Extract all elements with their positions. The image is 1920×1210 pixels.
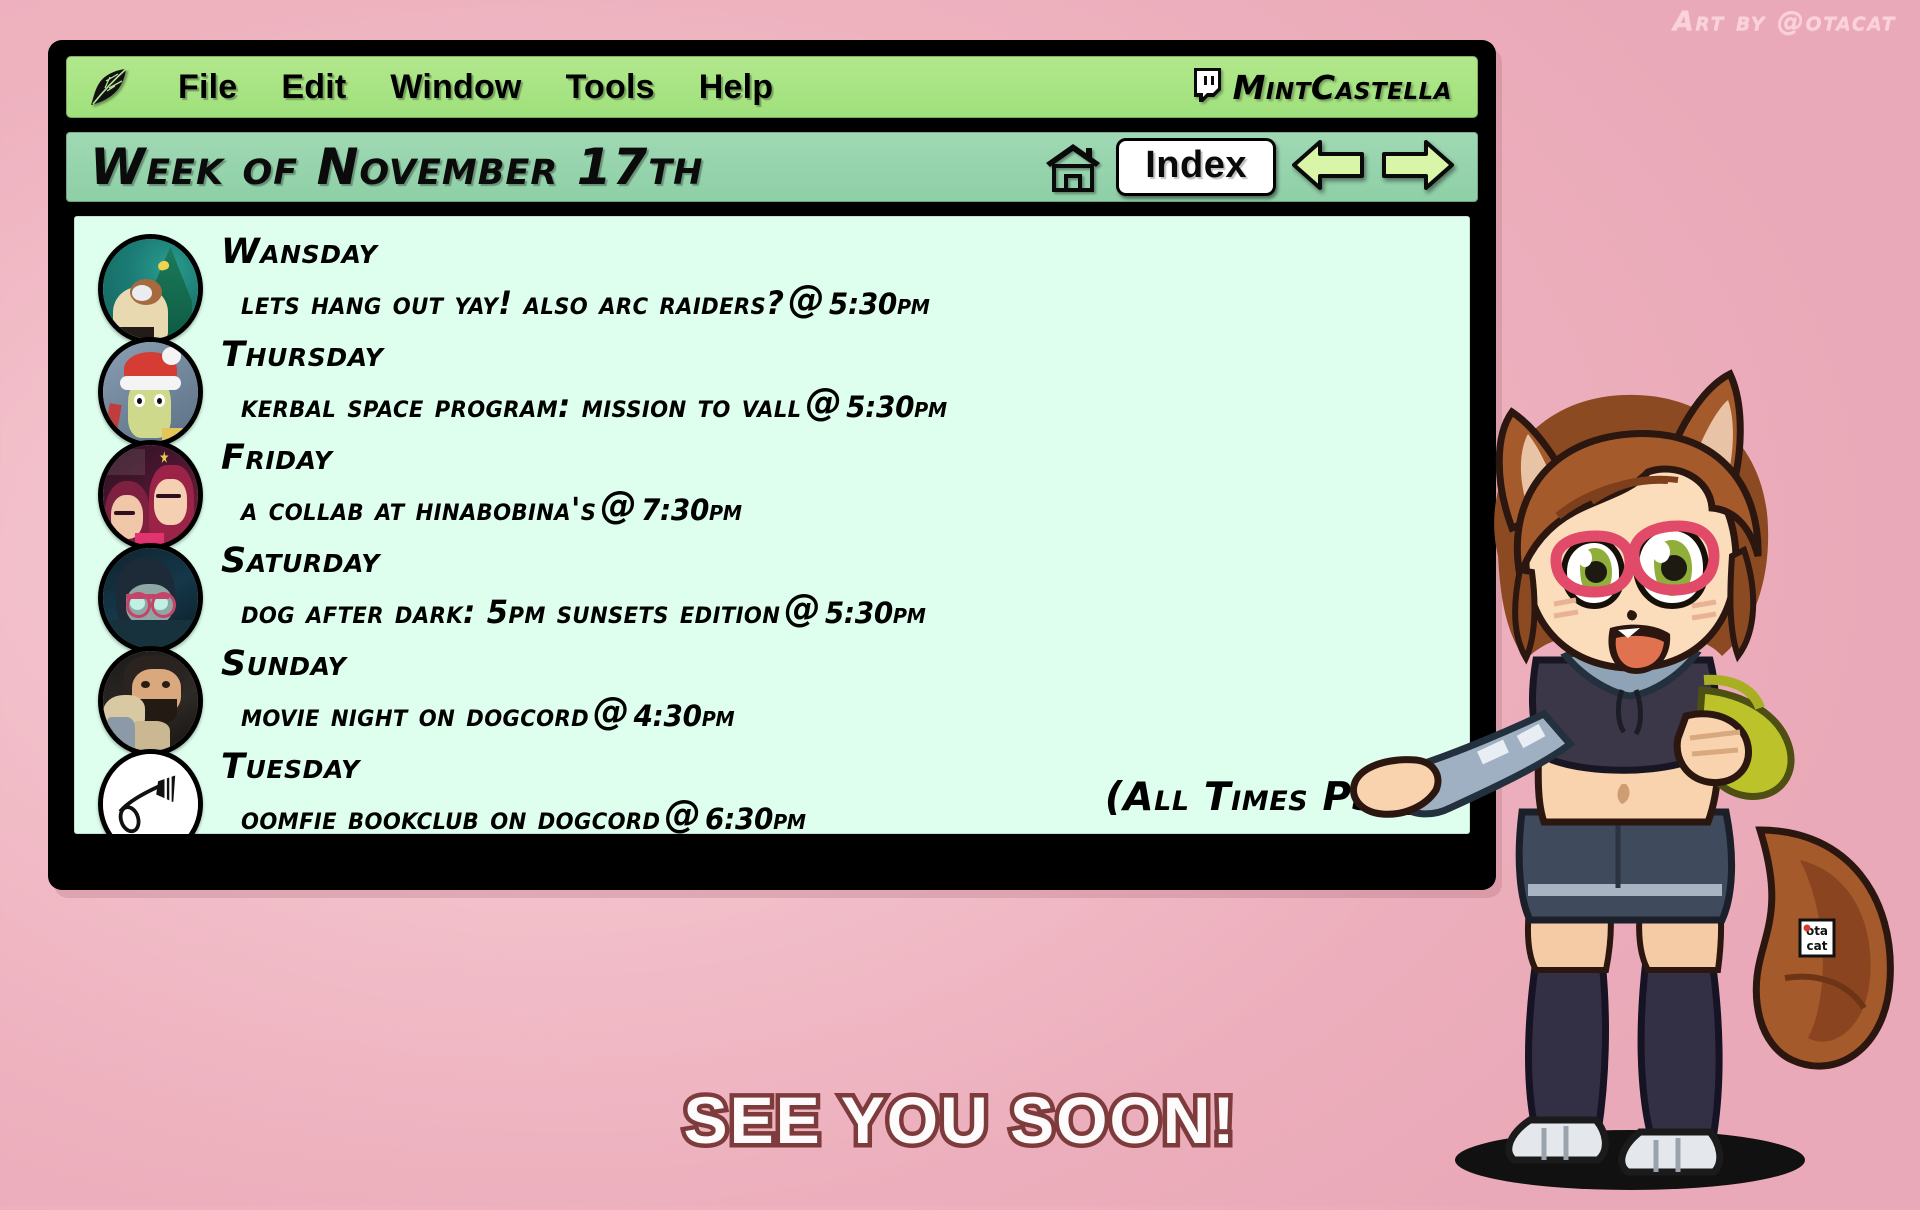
at-symbol: @	[593, 689, 630, 733]
schedule-day: Sunday	[221, 646, 755, 683]
schedule-description-text: lets hang out yay! also arc raiders?	[241, 284, 784, 322]
schedule-description: lets hang out yay! also arc raiders?@5:3…	[241, 277, 930, 322]
avatar-friday	[98, 440, 203, 550]
schedule-description-text: kerbal space program: mission to vall	[241, 387, 802, 425]
schedule-time: 7:30pm	[641, 493, 742, 527]
timezone-note: (All Times PST)	[1105, 775, 1426, 820]
brand[interactable]: MintCastella	[1191, 68, 1452, 107]
brand-name: MintCastella	[1233, 68, 1452, 107]
leaf-icon	[88, 66, 130, 108]
schedule-row-text: Wansday lets hang out yay! also arc raid…	[221, 232, 958, 322]
footer-message: SEE YOU SOON!	[0, 1082, 1920, 1158]
schedule-time: 5:30pm	[825, 596, 926, 630]
at-symbol: @	[805, 380, 842, 424]
schedule-time: 6:30pm	[705, 802, 806, 834]
schedule-row[interactable]: Friday a collab at hinabobina's@7:30pm	[74, 438, 1470, 541]
app-window: File Edit Window Tools Help MintCastella…	[48, 40, 1496, 890]
menu-item-help[interactable]: Help	[677, 68, 795, 107]
schedule-row[interactable]: Thursday kerbal space program: mission t…	[74, 335, 1470, 438]
schedule-day: Wansday	[221, 234, 958, 271]
at-symbol: @	[600, 483, 637, 527]
schedule-panel: Wansday lets hang out yay! also arc raid…	[74, 216, 1470, 834]
schedule-description-text: a collab at hinabobina's	[241, 490, 596, 528]
schedule-description-text: movie night on dogcord	[241, 696, 589, 734]
avatar-thursday	[98, 337, 203, 447]
schedule-description: dog after dark: 5pm sunsets edition@5:30…	[241, 586, 926, 631]
schedule-time: 5:30pm	[829, 287, 930, 321]
menu-item-tools[interactable]: Tools	[544, 68, 677, 107]
art-credit: Art by @otacat	[1673, 6, 1896, 37]
menu-item-window[interactable]: Window	[368, 68, 543, 107]
schedule-row[interactable]: Sunday movie night on dogcord@4:30pm	[74, 644, 1470, 747]
index-button[interactable]: Index	[1116, 138, 1276, 196]
at-symbol: @	[664, 792, 701, 834]
schedule-row-text: Thursday kerbal space program: mission t…	[221, 335, 976, 425]
page-title: Week of November 17th	[90, 138, 703, 196]
arrow-left-icon[interactable]	[1290, 139, 1366, 195]
schedule-description: movie night on dogcord@4:30pm	[241, 689, 734, 734]
schedule-day: Friday	[221, 440, 763, 477]
schedule-time: 4:30pm	[634, 699, 735, 733]
schedule-day: Thursday	[221, 337, 976, 374]
schedule-row-text: Sunday movie night on dogcord@4:30pm	[221, 644, 755, 734]
schedule-time: 5:30pm	[846, 390, 947, 424]
svg-text:ota: ota	[1806, 924, 1828, 938]
schedule-row-text: Friday a collab at hinabobina's@7:30pm	[221, 438, 763, 528]
navigation-controls: Index	[1044, 138, 1456, 196]
home-icon[interactable]	[1044, 142, 1102, 192]
schedule-row-text: Tuesday oomfie bookclub on dogcord@6:30p…	[221, 747, 829, 834]
at-symbol: @	[784, 586, 821, 630]
menu-bar: File Edit Window Tools Help MintCastella	[66, 56, 1478, 118]
schedule-row[interactable]: Wansday lets hang out yay! also arc raid…	[74, 232, 1470, 335]
schedule-row[interactable]: Saturday dog after dark: 5pm sunsets edi…	[74, 541, 1470, 644]
schedule-day: Tuesday	[221, 749, 829, 786]
schedule-description: kerbal space program: mission to vall@5:…	[241, 380, 947, 425]
schedule-description-text: oomfie bookclub on dogcord	[241, 799, 660, 834]
title-bar: Week of November 17th Index	[66, 132, 1478, 202]
avatar-sunday	[98, 646, 203, 756]
avatar-tuesday	[98, 749, 203, 834]
avatar-wansday	[98, 234, 203, 344]
at-symbol: @	[788, 277, 825, 321]
schedule-row-text: Saturday dog after dark: 5pm sunsets edi…	[221, 541, 954, 631]
twitch-icon	[1191, 68, 1223, 106]
svg-text:cat: cat	[1807, 939, 1828, 953]
menu-item-edit[interactable]: Edit	[259, 68, 368, 107]
avatar-saturday	[98, 543, 203, 653]
schedule-description: oomfie bookclub on dogcord@6:30pm	[241, 792, 806, 834]
arrow-right-icon[interactable]	[1380, 139, 1456, 195]
schedule-day: Saturday	[221, 543, 954, 580]
schedule-description: a collab at hinabobina's@7:30pm	[241, 483, 742, 528]
schedule-description-text: dog after dark: 5pm sunsets edition	[241, 593, 780, 631]
index-button-label: Index	[1145, 144, 1247, 186]
menu-item-file[interactable]: File	[156, 68, 259, 107]
